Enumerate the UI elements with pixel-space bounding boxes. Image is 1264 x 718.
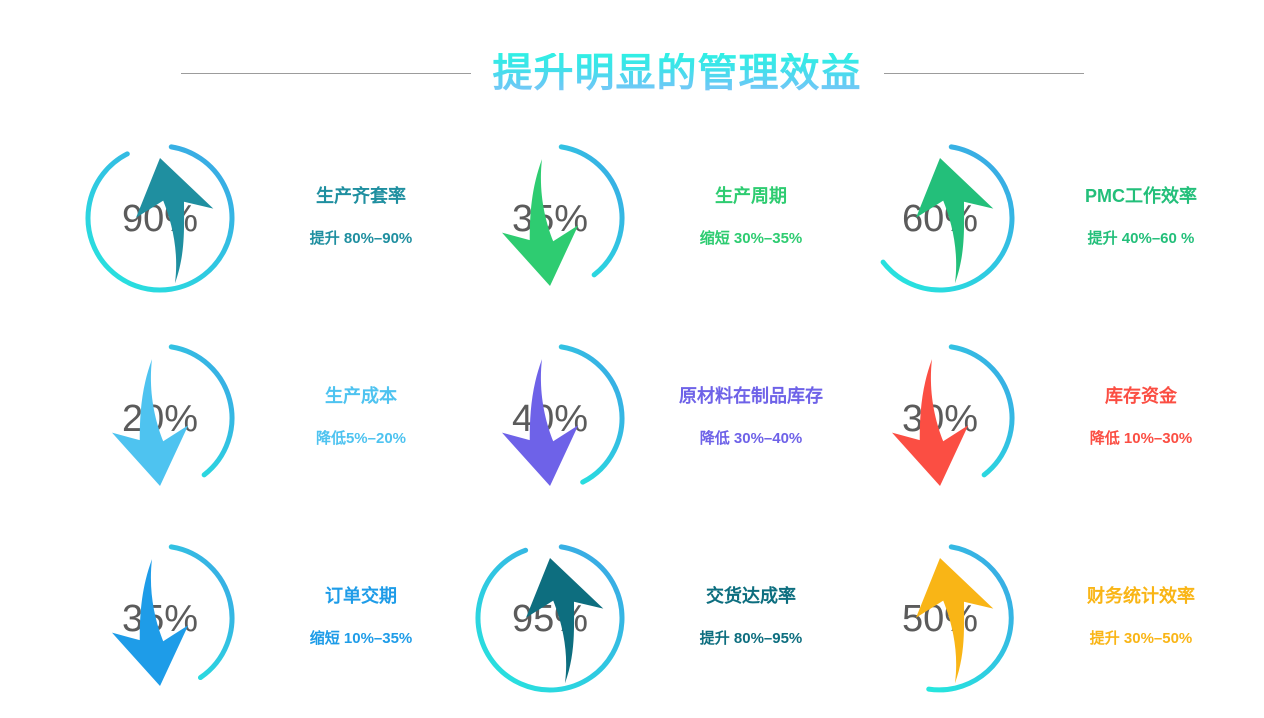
metric-card: 35%生产周期缩短 30%–35% bbox=[470, 118, 860, 318]
metric-card: 35%订单交期缩短 10%–35% bbox=[80, 518, 470, 718]
arrow-down-icon bbox=[80, 542, 240, 702]
metric-labels: 订单交期缩短 10%–35% bbox=[240, 587, 470, 646]
metric-delta: 提升 80%–90% bbox=[310, 231, 413, 246]
metric-card: 90%生产齐套率提升 80%–90% bbox=[80, 118, 470, 318]
metric-labels: 生产成本降低5%–20% bbox=[240, 387, 470, 446]
page-title: 提升明显的管理效益 bbox=[493, 53, 862, 93]
gauge-ring: 35% bbox=[80, 538, 240, 698]
gauge-ring: 20% bbox=[80, 338, 240, 498]
gauge-center: 35% bbox=[470, 138, 630, 298]
gauge-ring: 95% bbox=[470, 538, 630, 698]
gauge-ring: 30% bbox=[860, 338, 1020, 498]
metric-delta: 降低 30%–40% bbox=[700, 431, 803, 446]
gauge-center: 95% bbox=[470, 538, 630, 698]
gauge-ring: 40% bbox=[470, 338, 630, 498]
metric-labels: 原材料在制品库存降低 30%–40% bbox=[630, 387, 860, 446]
gauge-center: 30% bbox=[860, 338, 1020, 498]
metric-card: 40%原材料在制品库存降低 30%–40% bbox=[470, 318, 860, 518]
arrow-up-icon bbox=[470, 542, 630, 702]
metric-card: 20%生产成本降低5%–20% bbox=[80, 318, 470, 518]
metric-labels: 生产齐套率提升 80%–90% bbox=[240, 187, 470, 246]
gauge-center: 35% bbox=[80, 538, 240, 698]
gauge-ring: 35% bbox=[470, 138, 630, 298]
gauge-ring: 50% bbox=[860, 538, 1020, 698]
metric-delta: 缩短 10%–35% bbox=[310, 631, 413, 646]
arrow-down-icon bbox=[860, 342, 1020, 502]
metric-labels: 库存资金降低 10%–30% bbox=[1020, 387, 1250, 446]
metric-name: 生产成本 bbox=[325, 387, 397, 405]
metric-name: 交货达成率 bbox=[706, 587, 796, 605]
metric-delta: 提升 40%–60 % bbox=[1088, 231, 1195, 246]
gauge-center: 60% bbox=[860, 138, 1020, 298]
header-rule-left bbox=[181, 73, 471, 74]
metric-labels: PMC工作效率提升 40%–60 % bbox=[1020, 187, 1250, 246]
metric-card: 60%PMC工作效率提升 40%–60 % bbox=[860, 118, 1250, 318]
metric-delta: 降低 10%–30% bbox=[1090, 431, 1193, 446]
metric-card: 95%交货达成率提升 80%–95% bbox=[470, 518, 860, 718]
metric-delta: 降低5%–20% bbox=[316, 431, 406, 446]
slide-root: 提升明显的管理效益 90%生产齐套率提升 80%–90%35%生产周期缩短 30… bbox=[0, 0, 1264, 710]
metric-delta: 缩短 30%–35% bbox=[700, 231, 803, 246]
metric-labels: 生产周期缩短 30%–35% bbox=[630, 187, 860, 246]
metric-name: 订单交期 bbox=[325, 587, 397, 605]
metric-labels: 财务统计效率提升 30%–50% bbox=[1020, 587, 1250, 646]
header-rule-right bbox=[884, 73, 1084, 74]
gauge-center: 50% bbox=[860, 538, 1020, 698]
arrow-up-icon bbox=[860, 542, 1020, 702]
gauge-center: 40% bbox=[470, 338, 630, 498]
gauge-center: 20% bbox=[80, 338, 240, 498]
arrow-down-icon bbox=[80, 342, 240, 502]
arrow-down-icon bbox=[470, 142, 630, 302]
metric-card: 50%财务统计效率提升 30%–50% bbox=[860, 518, 1250, 718]
gauge-center: 90% bbox=[80, 138, 240, 298]
metric-name: 库存资金 bbox=[1105, 387, 1177, 405]
arrow-down-icon bbox=[470, 342, 630, 502]
metric-labels: 交货达成率提升 80%–95% bbox=[630, 587, 860, 646]
metrics-grid: 90%生产齐套率提升 80%–90%35%生产周期缩短 30%–35%60%PM… bbox=[80, 118, 1200, 708]
gauge-ring: 60% bbox=[860, 138, 1020, 298]
metric-delta: 提升 80%–95% bbox=[700, 631, 803, 646]
metric-delta: 提升 30%–50% bbox=[1090, 631, 1193, 646]
arrow-up-icon bbox=[860, 142, 1020, 302]
metric-name: 生产周期 bbox=[715, 187, 787, 205]
slide-header: 提升明显的管理效益 bbox=[0, 44, 1264, 102]
gauge-ring: 90% bbox=[80, 138, 240, 298]
arrow-up-icon bbox=[80, 142, 240, 302]
metric-name: PMC工作效率 bbox=[1085, 187, 1197, 205]
metric-name: 生产齐套率 bbox=[316, 187, 406, 205]
metric-name: 原材料在制品库存 bbox=[679, 387, 823, 405]
metric-card: 30%库存资金降低 10%–30% bbox=[860, 318, 1250, 518]
metric-name: 财务统计效率 bbox=[1087, 587, 1195, 605]
